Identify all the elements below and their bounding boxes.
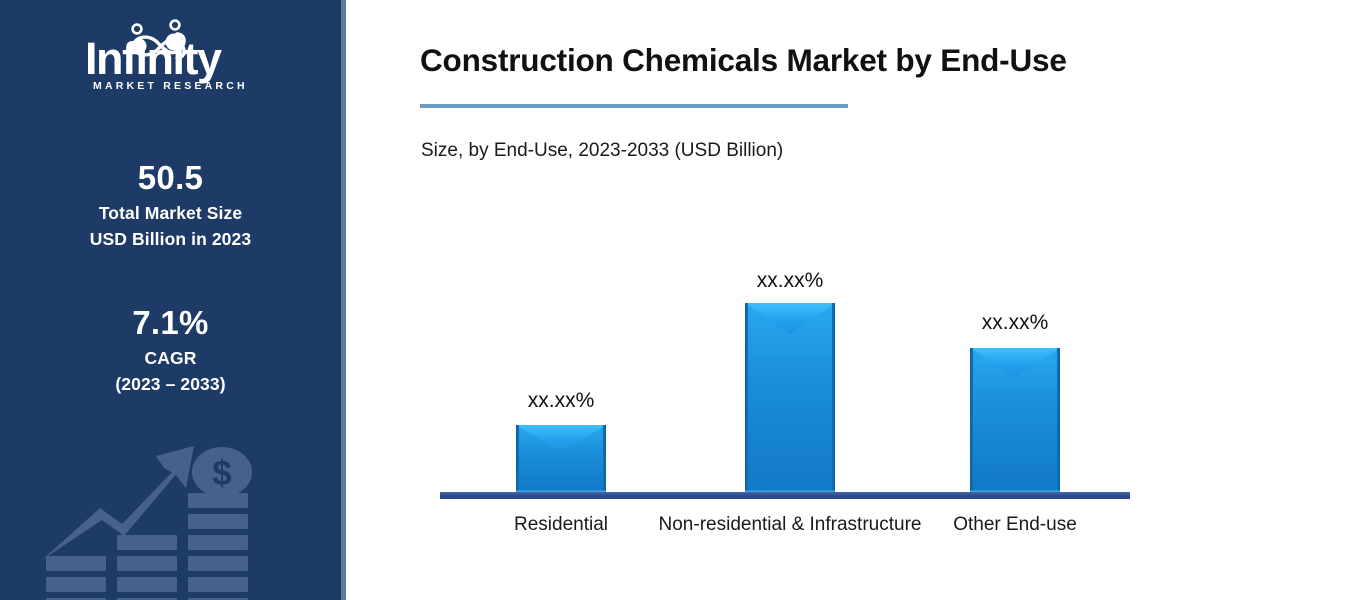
bar-chart: xx.xx% Residential xx.xx% Non-residentia… [346,0,1354,600]
stat-cagr: 7.1% CAGR (2023 – 2033) [0,303,341,397]
bar-residential[interactable] [516,425,606,493]
stat-cagr-label-2: (2023 – 2033) [0,371,341,397]
infinity-people-icon: Infinity MARKET RESEARCH [71,16,271,94]
dollar-icon: $ [212,454,231,493]
stat-market-size-value: 50.5 [0,158,341,198]
stat-market-size-label-2: USD Billion in 2023 [0,226,341,252]
stat-market-size-label-1: Total Market Size [0,200,341,226]
logo-wordmark: Infinity [85,33,222,84]
category-label-residential: Residential [486,512,636,538]
bar-other-end-use[interactable] [970,348,1060,493]
category-label-non-residential-infrastructure: Non-residential & Infrastructure [650,512,930,538]
bar-edge-right [603,425,606,493]
bar-edge-left [745,303,748,493]
stat-cagr-label-1: CAGR [0,345,341,371]
sidebar-panel: Infinity MARKET RESEARCH 50.5 Total Mark… [0,0,341,600]
stat-cagr-value: 7.1% [0,303,341,343]
bar-value-label-residential: xx.xx% [496,388,626,414]
growth-arrow-coins-graphic: $ [36,438,306,600]
chart-axis-line [440,492,1130,499]
logo-tagline: MARKET RESEARCH [93,80,248,92]
bar-value-label-other-end-use: xx.xx% [950,310,1080,336]
bar-edge-left [516,425,519,493]
bar-edge-left [970,348,973,493]
category-label-other-end-use: Other End-use [940,512,1090,538]
slide-canvas: Infinity MARKET RESEARCH 50.5 Total Mark… [0,0,1354,600]
bar-edge-right [1057,348,1060,493]
bar-edge-right [832,303,835,493]
main-content: Construction Chemicals Market by End-Use… [346,0,1354,600]
bar-value-label-non-residential-infrastructure: xx.xx% [725,268,855,294]
bar-non-residential-infrastructure[interactable] [745,303,835,493]
brand-logo: Infinity MARKET RESEARCH [0,16,341,94]
stat-market-size: 50.5 Total Market Size USD Billion in 20… [0,158,341,252]
